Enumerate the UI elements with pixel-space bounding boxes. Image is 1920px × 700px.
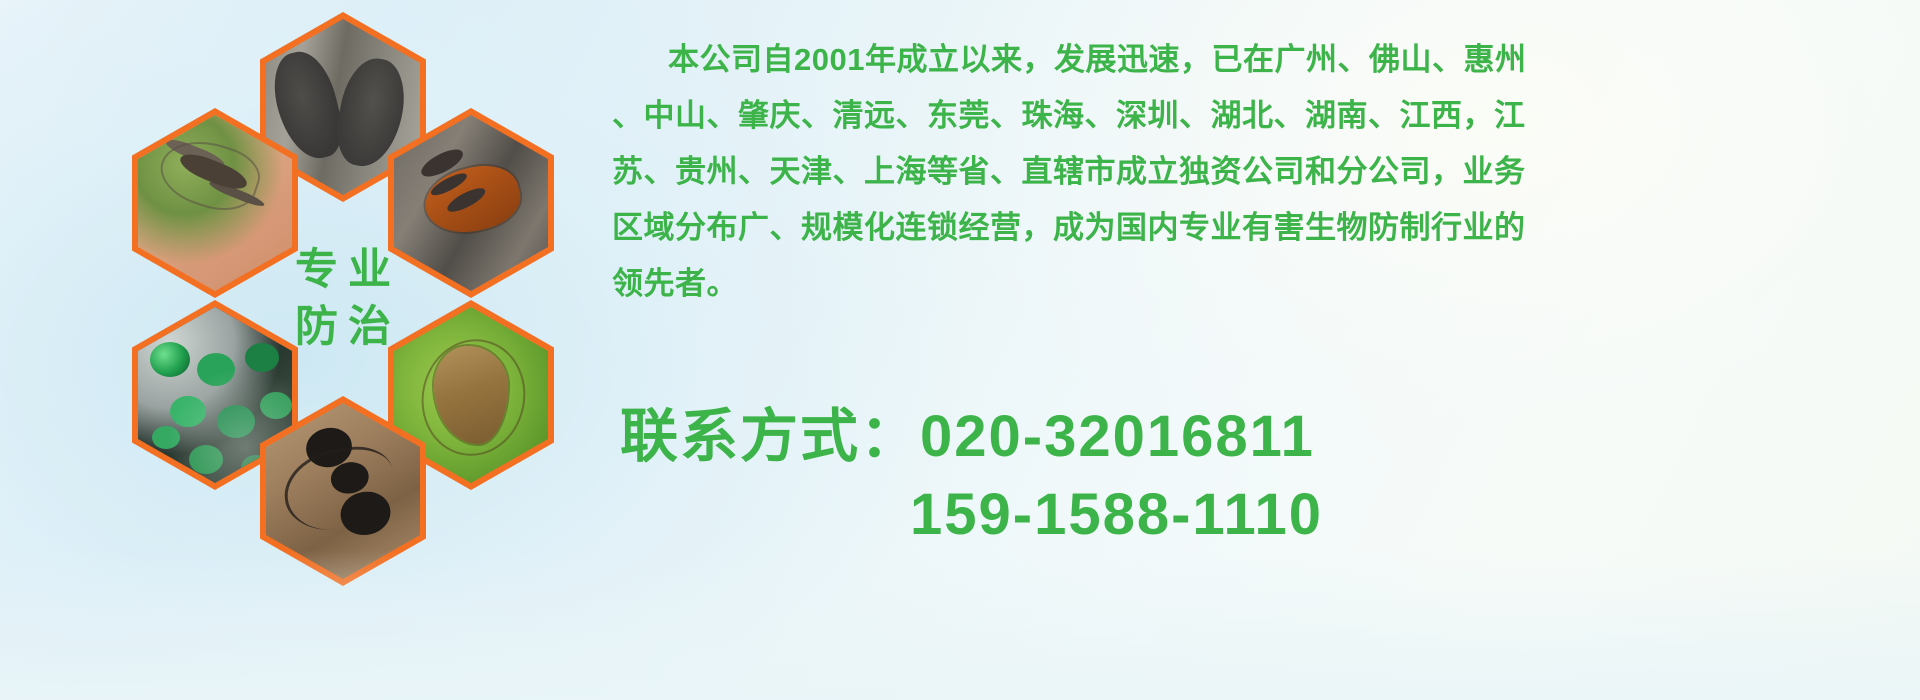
center-slogan-line1: 专业 <box>285 248 401 293</box>
intro-line-1-text: 本公司自2001年成立以来，发展迅速，已在广州、佛山、惠州 <box>668 42 1526 77</box>
hex-inner-ant <box>266 403 420 579</box>
intro-line-1: 本公司自2001年成立以来，发展迅速，已在广州、佛山、惠州 <box>612 32 1912 88</box>
contact-phone-landline[interactable]: 联系方式：020-32016811 <box>620 398 1910 476</box>
contact-block: 联系方式：020-32016811 159-1588-1110 <box>620 398 1910 554</box>
honeycomb-photo-cluster: 专业 防治 <box>92 12 592 572</box>
intro-line-5: 领先者。 <box>612 256 1912 312</box>
center-slogan-line2: 防治 <box>285 305 401 350</box>
intro-line-4: 区域分布广、规模化连锁经营，成为国内专业有害生物防制行业的 <box>612 200 1912 256</box>
contact-phone-mobile[interactable]: 159-1588-1110 <box>620 476 1910 554</box>
company-intro-banner: 专业 防治 本公司自2001年成立以来，发展迅速，已在广州、佛山、惠州 、中山、… <box>0 0 1920 700</box>
ant-photo <box>266 403 420 579</box>
intro-line-3: 苏、贵州、天津、上海等省、直辖市成立独资公司和分公司，业务 <box>612 144 1912 200</box>
company-intro-text: 本公司自2001年成立以来，发展迅速，已在广州、佛山、惠州 、中山、肇庆、清远、… <box>612 32 1912 312</box>
intro-line-2: 、中山、肇庆、清远、东莞、珠海、深圳、湖北、湖南、江西，江 <box>612 88 1912 144</box>
